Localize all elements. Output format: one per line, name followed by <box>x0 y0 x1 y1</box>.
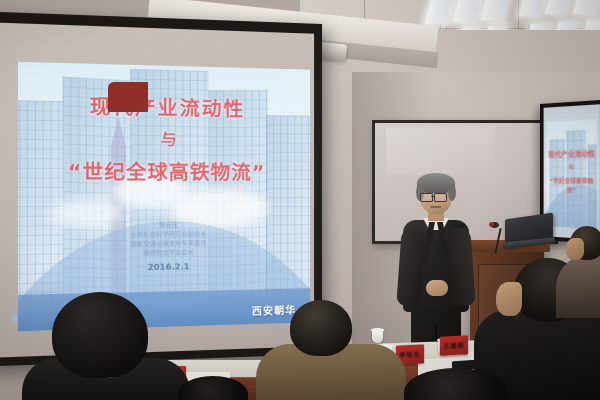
audience-red-scarf <box>108 82 148 112</box>
conference-room-photo: 现代产业流动性 与 “世纪全球高铁物流” <box>0 0 600 400</box>
name-placard-label: 李晓东 <box>399 349 420 359</box>
slide-subtitle-block: 陈元庄 全国社会科学研究会副会长 国家交通运输发展专家委员 陕西物流学会会长 <box>18 220 310 261</box>
audience-woman-front-left <box>30 292 170 400</box>
glasses-lens-right <box>434 193 447 202</box>
slide-title-line3: “世纪全球高铁物流” <box>18 156 310 185</box>
ceiling-light-panel <box>573 0 600 14</box>
name-placard-label: 王建国 <box>443 340 464 350</box>
glasses-bridge <box>431 196 435 197</box>
microphone-indicator-icon <box>489 222 494 227</box>
audience-shoulders <box>556 254 600 318</box>
presentation-slide: 现代产业流动性 与 “世纪全球高铁物流” 陈元庄 全国社会科学研究会副会长 国家… <box>18 62 310 331</box>
audience-face-profile <box>566 238 584 260</box>
name-placard: 王建国 <box>440 335 468 355</box>
audience-head <box>52 292 148 378</box>
presenter-mouth <box>430 206 441 208</box>
presenter-right-arm <box>446 227 475 306</box>
glasses-lens-left <box>420 193 433 202</box>
secondary-slide-title-line2: 与 <box>546 164 597 171</box>
presenter-hair-side-right <box>448 184 456 201</box>
secondary-slide-title-line3: “世纪全球高铁物流” <box>546 176 597 195</box>
presenter <box>398 176 474 362</box>
slide-title-line1: 现代产业流动性 <box>18 90 310 123</box>
audience-man-far-right <box>560 226 600 316</box>
audience-man-center <box>272 300 392 400</box>
whiteboard-glare <box>386 128 494 175</box>
slide-title-line2: 与 <box>18 126 310 151</box>
slide-title-block: 现代产业流动性 与 “世纪全球高铁物流” <box>18 90 310 185</box>
audience-head <box>290 300 352 356</box>
secondary-slide-title-line1: 现代产业流动性 <box>546 149 597 160</box>
presenter-clasped-hands <box>426 280 448 296</box>
audience-face-profile <box>496 282 522 316</box>
